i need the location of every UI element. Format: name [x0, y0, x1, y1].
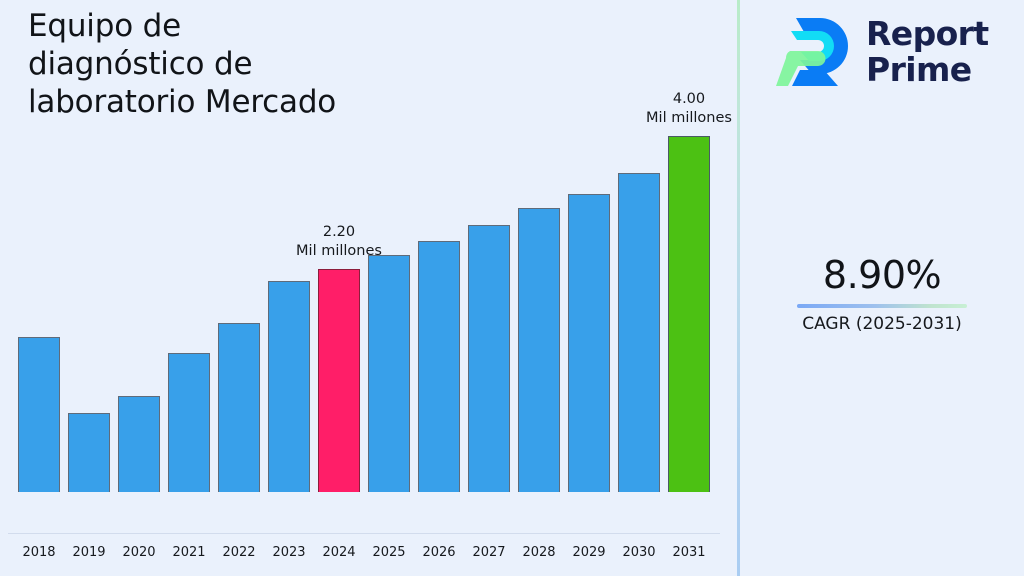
bar-2020: [118, 396, 160, 492]
bar-chart: 2.20Mil millones4.00Mil millones 2018201…: [0, 0, 737, 576]
bar-2025: [368, 255, 410, 492]
report-prime-logo-icon: [776, 14, 854, 90]
bar-2030: [618, 173, 660, 492]
bar-2031: [668, 136, 710, 492]
brand-logo-line-1: Report: [866, 16, 989, 52]
bar-2023: [268, 281, 310, 492]
cagr-caption: CAGR (2025-2031): [740, 314, 1024, 334]
cagr-value: 8.90%: [740, 253, 1024, 298]
bar-2019: [68, 413, 110, 492]
side-panel: Report Prime 8.90% CAGR (2025-2031): [740, 0, 1024, 576]
bar-value-2024: 2.20: [259, 223, 419, 242]
bar-2029: [568, 194, 610, 492]
chart-x-axis: 2018201920202021202220232024202520262027…: [0, 534, 737, 576]
brand-logo-line-2: Prime: [866, 52, 989, 88]
bar-2021: [168, 353, 210, 492]
cagr-block: 8.90% CAGR (2025-2031): [740, 253, 1024, 334]
brand-logo-text: Report Prime: [866, 16, 989, 87]
bar-2018: [18, 337, 60, 492]
bar-2026: [418, 241, 460, 492]
infographic-root: Equipo de diagnóstico de laboratorio Mer…: [0, 0, 1024, 576]
bar-2028: [518, 208, 560, 492]
cagr-divider: [797, 304, 967, 308]
bar-2022: [218, 323, 260, 492]
brand-logo: Report Prime: [776, 12, 1008, 92]
bar-2024: [318, 269, 360, 492]
bar-2027: [468, 225, 510, 492]
x-axis-label-2031: 2031: [659, 545, 719, 560]
chart-plot-area: 2.20Mil millones4.00Mil millones: [0, 0, 737, 534]
